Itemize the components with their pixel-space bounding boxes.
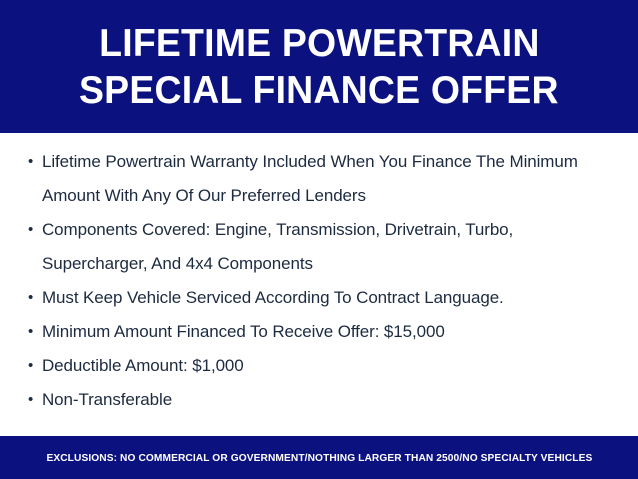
bullet-text: Deductible Amount: $1,000 [40,349,620,383]
bullet-text: Minimum Amount Financed To Receive Offer… [40,315,620,349]
offer-details-section: • Lifetime Powertrain Warranty Included … [0,133,638,436]
list-item: • Lifetime Powertrain Warranty Included … [18,145,620,213]
bullet-point-icon: • [18,145,40,179]
list-item: • Minimum Amount Financed To Receive Off… [18,315,620,349]
page-title-line-2: SPECIAL FINANCE OFFER [79,67,559,114]
offer-bullet-list: • Lifetime Powertrain Warranty Included … [18,145,620,417]
header-banner: LIFETIME POWERTRAIN SPECIAL FINANCE OFFE… [0,0,638,133]
offer-slide: LIFETIME POWERTRAIN SPECIAL FINANCE OFFE… [0,0,638,479]
list-item: • Deductible Amount: $1,000 [18,349,620,383]
bullet-point-icon: • [18,281,40,315]
list-item: • Must Keep Vehicle Serviced According T… [18,281,620,315]
bullet-text: Must Keep Vehicle Serviced According To … [40,281,620,315]
exclusions-disclaimer: EXCLUSIONS: NO COMMERCIAL OR GOVERNMENT/… [46,451,592,465]
bullet-text: Components Covered: Engine, Transmission… [40,213,620,281]
footer-banner: EXCLUSIONS: NO COMMERCIAL OR GOVERNMENT/… [0,436,638,479]
bullet-point-icon: • [18,349,40,383]
bullet-point-icon: • [18,383,40,417]
page-title-line-1: LIFETIME POWERTRAIN [99,20,539,67]
bullet-point-icon: • [18,315,40,349]
bullet-text: Non-Transferable [40,383,620,417]
bullet-point-icon: • [18,213,40,247]
list-item: • Non-Transferable [18,383,620,417]
list-item: • Components Covered: Engine, Transmissi… [18,213,620,281]
bullet-text: Lifetime Powertrain Warranty Included Wh… [40,145,620,213]
